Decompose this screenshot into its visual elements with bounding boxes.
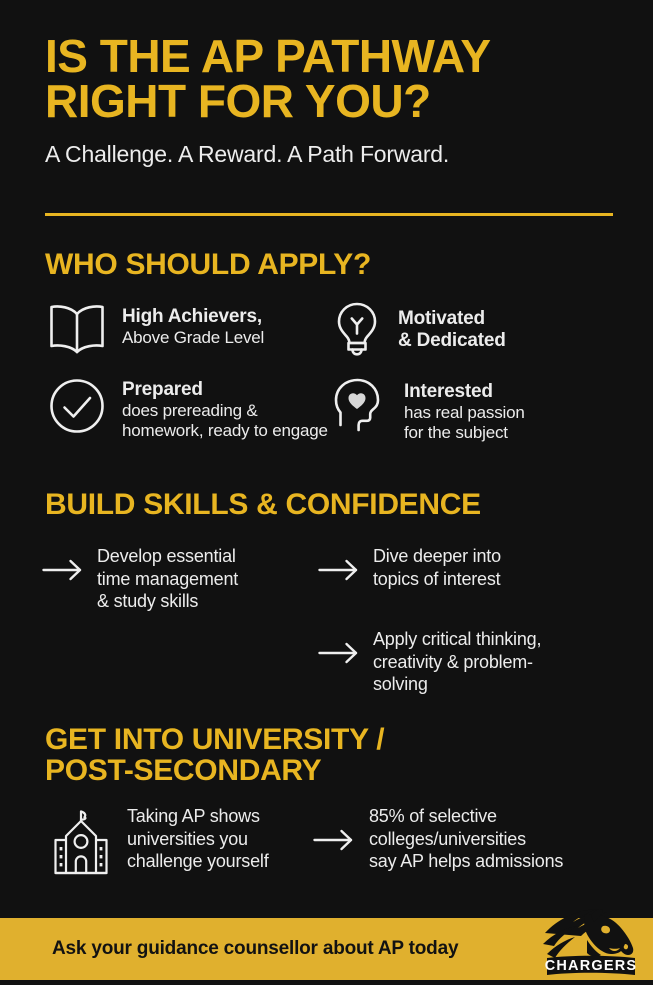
page-title: Is the AP Pathway Right for You? [45,34,625,124]
list-item-body: Taking AP shows universities you challen… [127,805,269,873]
section-heading-skills: Build Skills & Confidence [45,490,481,521]
list-item: Motivated & Dedicated [332,300,506,363]
footer-cta-text: Ask your guidance counsellor about AP to… [52,938,458,960]
section-heading-university: Get Into University / Post-Secondary [45,725,384,786]
list-item-text: Apply critical thinking, creativity & pr… [373,628,541,696]
list-item-body: Dive deeper into topics of interest [373,545,501,590]
school-building-icon [52,808,110,883]
open-book-icon [47,300,107,361]
list-item-text: Develop essential time management & stud… [97,545,238,613]
list-item: Taking AP shows universities you challen… [52,805,269,883]
list-item: High Achievers, Above Grade Level [47,300,264,361]
list-item-body: 85% of selective colleges/universities s… [369,805,563,873]
arrow-right-icon [318,559,360,586]
list-item-body: Above Grade Level [122,328,264,348]
head-heart-icon [332,376,388,443]
list-item: Prepared does prereading & homework, rea… [47,376,328,441]
list-item-title: Prepared [122,379,328,401]
list-item: Develop essential time management & stud… [42,545,238,613]
arrow-right-icon [318,642,360,669]
horse-head-icon: CHARGERS [535,906,645,980]
lightbulb-icon [332,300,382,363]
page-subtitle: A Challenge. A Reward. A Path Forward. [45,141,625,168]
list-item-text: Motivated & Dedicated [398,300,506,352]
list-item-title: High Achievers, [122,306,264,328]
list-item-text: High Achievers, Above Grade Level [122,300,264,348]
list-item-text: Taking AP shows universities you challen… [127,805,269,873]
list-item: Dive deeper into topics of interest [318,545,501,590]
check-circle-icon [47,376,107,441]
arrow-right-icon [42,559,84,586]
list-item-text: 85% of selective colleges/universities s… [369,805,563,873]
list-item-text: Interested has real passion for the subj… [404,376,525,443]
list-item-title: Motivated [398,308,506,330]
list-item-text: Dive deeper into topics of interest [373,545,501,590]
list-item-body: & Dedicated [398,330,506,352]
logo-text: CHARGERS [545,958,638,974]
list-item-body: does prereading & homework, ready to eng… [122,401,328,441]
list-item-body: has real passion for the subject [404,403,525,443]
list-item-body: Develop essential time management & stud… [97,545,238,613]
list-item: 85% of selective colleges/universities s… [313,805,563,873]
list-item: Interested has real passion for the subj… [332,376,525,443]
list-item-title: Interested [404,381,525,403]
infographic-poster: Is the AP Pathway Right for You? A Chall… [0,0,653,980]
arrow-right-icon [313,829,355,856]
footer-bar: Ask your guidance counsellor about AP to… [0,918,653,980]
hero-block: Is the AP Pathway Right for You? A Chall… [45,34,625,168]
list-item: Apply critical thinking, creativity & pr… [318,628,541,696]
list-item-body: Apply critical thinking, creativity & pr… [373,628,541,696]
section-heading-apply: Who Should Apply? [45,250,371,281]
list-item-text: Prepared does prereading & homework, rea… [122,376,328,441]
gold-divider [45,213,613,216]
